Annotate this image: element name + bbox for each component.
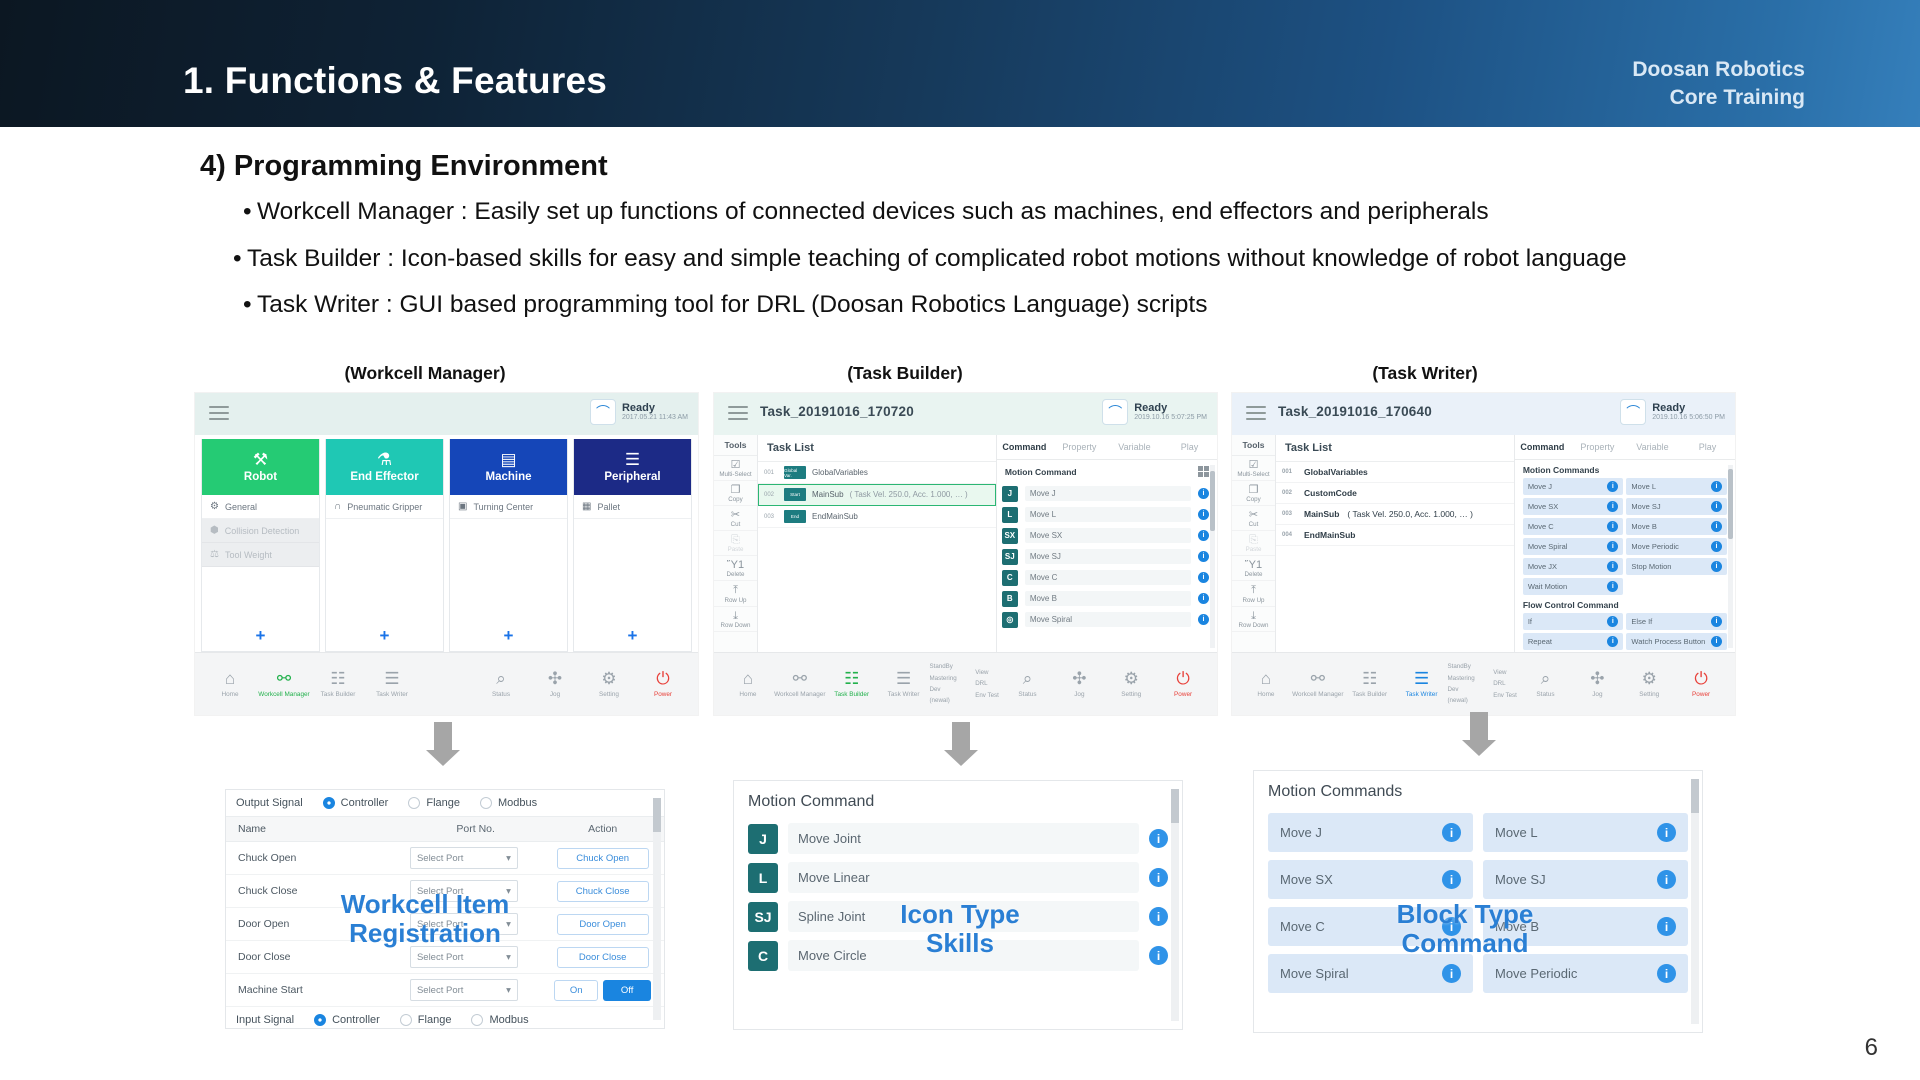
footer-task-builder-icon[interactable]: ☷ Task Builder xyxy=(1344,670,1396,698)
tool-row-up-icon[interactable]: ⤒ Row Up xyxy=(714,581,757,606)
action-button[interactable]: Chuck Open xyxy=(557,848,649,869)
info-icon[interactable]: i xyxy=(1607,481,1618,492)
row-number: 003 xyxy=(764,514,778,520)
move-sj-icon: SJ xyxy=(748,902,778,932)
output-signal-label: Output Signal xyxy=(236,797,303,809)
footer-mini-item[interactable]: Dev (newal) xyxy=(930,684,962,707)
row-detail: ( Task Vel. 250.0, Acc. 1.000, … ) xyxy=(1347,509,1473,519)
writer-task-list: Task List 001 GlobalVariables 002 Custom… xyxy=(1276,435,1515,652)
task-list-row[interactable]: 004 EndMainSub xyxy=(1276,525,1514,546)
radio-modbus-output[interactable]: Modbus xyxy=(480,797,537,809)
task-writer-icon: ☰ xyxy=(1396,670,1448,689)
col-port: Port No. xyxy=(410,823,541,835)
multi-select-icon: ☑ xyxy=(714,459,757,471)
item-icon: ⬢ xyxy=(210,525,219,536)
motion-command-row[interactable]: L Move L i xyxy=(997,504,1217,525)
panel-title: Motion Command xyxy=(734,781,1182,819)
info-icon[interactable]: i xyxy=(1442,823,1461,842)
footer-label: Home xyxy=(722,691,774,698)
command-label: Move L xyxy=(1631,482,1656,491)
row-number: 002 xyxy=(1282,490,1296,496)
task-name: Task_20191016_170720 xyxy=(760,404,914,419)
jog-icon: ✣ xyxy=(528,670,582,689)
footer-mini-item[interactable]: View DRL xyxy=(1493,667,1519,690)
footer-mini-item[interactable]: Env Test xyxy=(1493,690,1519,701)
footer-gear-icon[interactable]: ⚙ Setting xyxy=(1105,670,1157,698)
radio-controller-output[interactable]: Controller xyxy=(323,797,389,809)
hamburger-icon[interactable] xyxy=(209,406,229,424)
action-button[interactable]: Door Open xyxy=(557,914,649,935)
task-builder-icon: ☷ xyxy=(311,670,365,689)
footer-label: Workcell Manager xyxy=(257,691,311,698)
info-icon[interactable]: i xyxy=(1607,501,1618,512)
power-icon: ⏻ xyxy=(636,670,690,689)
info-icon[interactable]: i xyxy=(1657,823,1676,842)
info-icon[interactable]: i xyxy=(1711,521,1722,532)
info-icon[interactable]: i xyxy=(1607,561,1618,572)
footer-mini-item[interactable]: StandBy xyxy=(930,661,962,672)
workcell-card-item[interactable]: ⚙ General xyxy=(202,495,319,519)
col-name: Name xyxy=(226,823,410,835)
motion-command-row[interactable]: ◎ Move Spiral i xyxy=(997,609,1217,630)
command-label: Move SX xyxy=(1280,872,1333,887)
command-label: Move SJ xyxy=(1495,872,1546,887)
overlay-line: Icon Type xyxy=(850,900,1070,929)
info-icon[interactable]: i xyxy=(1711,616,1722,627)
status-label: Ready xyxy=(1134,402,1207,415)
footer-mini-item[interactable]: Mastering xyxy=(1448,673,1480,684)
brand-line-2: Core Training xyxy=(1632,84,1805,112)
info-icon[interactable]: i xyxy=(1607,541,1618,552)
info-icon[interactable]: i xyxy=(1657,964,1676,983)
status-time: 2017.05.21 11:43 AM xyxy=(622,414,688,422)
robot-status-icon: ⌒ xyxy=(590,399,616,425)
command-label: Move B xyxy=(1631,522,1656,531)
gear-icon: ⚙ xyxy=(1105,670,1157,689)
footer-power-icon[interactable]: ⏻ Power xyxy=(636,670,690,698)
trash-icon: Ὕ1 xyxy=(714,559,757,571)
radio-label: Flange xyxy=(426,797,460,809)
info-icon[interactable]: i xyxy=(1198,572,1209,583)
tab-variable[interactable]: Variable xyxy=(1107,435,1162,459)
command-block[interactable]: Move Spirali xyxy=(1523,538,1624,555)
footer-status-icon[interactable]: ⌕ Status xyxy=(474,670,528,698)
command-label: Move L xyxy=(1025,507,1191,522)
task-list-row[interactable]: 003 MainSub ( Task Vel. 250.0, Acc. 1.00… xyxy=(1276,504,1514,525)
footer-mini-item[interactable]: Dev (newal) xyxy=(1448,684,1480,707)
machine-icon: ▤ xyxy=(500,451,516,468)
gripper-icon: ⚗ xyxy=(377,451,392,468)
command-block[interactable]: Ifi xyxy=(1523,613,1624,630)
chevron-down-icon: ▾ xyxy=(506,853,511,864)
motion-command-row[interactable]: SX Move SX i xyxy=(997,525,1217,546)
command-label: Move C xyxy=(1025,570,1191,585)
command-tabs: CommandPropertyVariablePlay xyxy=(1515,435,1735,460)
row-label: MainSub xyxy=(1304,509,1339,519)
info-icon[interactable]: i xyxy=(1657,870,1676,889)
radio-flange-input[interactable]: Flange xyxy=(400,1014,452,1026)
footer-power-icon[interactable]: ⏻ Power xyxy=(1157,670,1209,698)
info-icon[interactable]: i xyxy=(1149,907,1168,926)
tool-paste-icon[interactable]: ⎘ Paste xyxy=(714,531,757,556)
command-scrollbar[interactable] xyxy=(1728,465,1733,648)
command-block[interactable]: Else Ifi xyxy=(1626,613,1727,630)
info-icon[interactable]: i xyxy=(1198,551,1209,562)
row-number: 003 xyxy=(1282,511,1296,517)
command-block[interactable]: Move SXi xyxy=(1523,498,1624,515)
command-block[interactable]: Repeati xyxy=(1523,633,1624,650)
footer-jog-icon[interactable]: ✣ Jog xyxy=(1053,670,1105,698)
port-select[interactable]: Select Port▾ xyxy=(410,979,518,1001)
item-icon: ∩ xyxy=(334,501,341,512)
task-list-row[interactable]: 001 GlobalVariables xyxy=(1276,462,1514,483)
copy-icon: ❐ xyxy=(1232,484,1275,496)
tool-label: Row Down xyxy=(1232,622,1275,629)
footer-workcell-icon[interactable]: ⚯ Workcell Manager xyxy=(774,670,826,698)
info-icon[interactable]: i xyxy=(1149,946,1168,965)
skill-label: Move Joint xyxy=(788,823,1139,854)
flow-arrow xyxy=(1462,712,1496,756)
writer-tools-sidebar: Tools ☑ Multi-Select ❐ Copy ✂ Cut ⎘ Past… xyxy=(1232,435,1276,652)
row-type-chip: Global Var. xyxy=(784,466,806,479)
page-number: 6 xyxy=(1865,1034,1878,1062)
command-label: Move J xyxy=(1528,482,1552,491)
overlay-icon-type-skills: Icon TypeSkills xyxy=(850,900,1070,958)
workcell-icon: ⚯ xyxy=(774,670,826,689)
tool-trash-icon[interactable]: Ὕ1 Delete xyxy=(1232,556,1275,581)
info-icon[interactable]: i xyxy=(1149,868,1168,887)
footer-workcell-icon[interactable]: ⚯ Workcell Manager xyxy=(257,670,311,698)
tool-trash-icon[interactable]: Ὕ1 Delete xyxy=(714,556,757,581)
footer-home-icon[interactable]: ⌂ Home xyxy=(203,670,257,698)
off-button[interactable]: Off xyxy=(603,980,651,1001)
info-icon[interactable]: i xyxy=(1607,521,1618,532)
overlay-line: Block Type xyxy=(1340,900,1590,929)
footer-label: Jog xyxy=(528,691,582,698)
info-icon[interactable]: i xyxy=(1198,509,1209,520)
footer-jog-icon[interactable]: ✣ Jog xyxy=(1571,670,1623,698)
status-icon: ⌕ xyxy=(474,670,528,689)
caption-task-builder: (Task Builder) xyxy=(785,363,1025,384)
add-item-button[interactable]: + xyxy=(574,623,691,651)
command-block[interactable]: Move Bi xyxy=(1626,518,1727,535)
tool-paste-icon[interactable]: ⎘ Paste xyxy=(1232,531,1275,556)
tab-command[interactable]: Command xyxy=(997,435,1052,459)
tools-header: Tools xyxy=(714,435,757,456)
footer-home-icon[interactable]: ⌂ Home xyxy=(722,670,774,698)
panel-scrollbar[interactable] xyxy=(1171,789,1179,1021)
workcell-card[interactable]: ▤ Machine ▣ Turning Center + xyxy=(449,439,568,652)
tool-label: Copy xyxy=(1232,496,1275,503)
panel-scrollbar[interactable] xyxy=(1691,779,1699,1024)
tool-label: Cut xyxy=(1232,521,1275,528)
footer-mini-item[interactable]: View DRL xyxy=(975,667,1001,690)
move-sx-icon: SX xyxy=(1002,528,1018,544)
workcell-card-item[interactable]: ∩ Pneumatic Gripper xyxy=(326,495,443,519)
footer-workcell-icon[interactable]: ⚯ Workcell Manager xyxy=(1292,670,1344,698)
footer-label: Task Builder xyxy=(826,691,878,698)
command-block[interactable]: Move SX i xyxy=(1268,860,1473,899)
move-sj-icon: SJ xyxy=(1002,549,1018,565)
tool-copy-icon[interactable]: ❐ Copy xyxy=(1232,481,1275,506)
footer-mini-item[interactable]: StandBy xyxy=(1448,661,1480,672)
overlay-block-type-command: Block TypeCommand xyxy=(1340,900,1590,958)
row-number: 004 xyxy=(1282,532,1296,538)
port-select[interactable]: Select Port▾ xyxy=(410,847,518,869)
info-icon[interactable]: i xyxy=(1607,581,1618,592)
footer-task-builder-icon[interactable]: ☷ Task Builder xyxy=(311,670,365,698)
home-icon: ⌂ xyxy=(722,670,774,689)
command-block[interactable]: Move SJ i xyxy=(1483,860,1688,899)
command-block[interactable]: Watch Process Buttoni xyxy=(1626,633,1727,650)
tool-row-up-icon[interactable]: ⤒ Row Up xyxy=(1232,581,1275,606)
command-block[interactable]: Move SJi xyxy=(1626,498,1727,515)
footer-home-icon[interactable]: ⌂ Home xyxy=(1240,670,1292,698)
workcell-manager-screenshot: ⌒ Ready 2017.05.21 11:43 AM ⚒ Robot ⚙ Ge… xyxy=(195,393,698,715)
jog-icon: ✣ xyxy=(1571,670,1623,689)
row-up-icon: ⤒ xyxy=(714,584,757,596)
robot-arm-icon: ⚒ xyxy=(253,451,268,468)
info-icon[interactable]: i xyxy=(1198,614,1209,625)
tool-label: Cut xyxy=(714,521,757,528)
on-button[interactable]: On xyxy=(554,980,598,1001)
info-icon[interactable]: i xyxy=(1442,964,1461,983)
workcell-card[interactable]: ⚗ End Effector ∩ Pneumatic Gripper + xyxy=(325,439,444,652)
row-type-chip: Start xyxy=(784,488,806,501)
builder-command-pane: CommandPropertyVariablePlay Motion Comma… xyxy=(997,435,1217,652)
row-label: GlobalVariables xyxy=(812,468,868,477)
action-button[interactable]: Chuck Close xyxy=(557,881,649,902)
footer-label: Workcell Manager xyxy=(1292,691,1344,698)
tab-variable[interactable]: Variable xyxy=(1625,435,1680,459)
info-icon[interactable]: i xyxy=(1711,636,1722,647)
info-icon[interactable]: i xyxy=(1198,488,1209,499)
command-block[interactable]: Stop Motioni xyxy=(1626,558,1727,575)
footer-label: Status xyxy=(1520,691,1572,698)
footer-task-writer-icon[interactable]: ☰ Task Writer xyxy=(878,670,930,698)
info-icon[interactable]: i xyxy=(1711,561,1722,572)
info-icon[interactable]: i xyxy=(1198,593,1209,604)
tool-cut-icon[interactable]: ✂ Cut xyxy=(1232,506,1275,531)
radio-dot-icon xyxy=(323,797,335,809)
radio-flange-output[interactable]: Flange xyxy=(408,797,460,809)
workcell-card[interactable]: ☰ Peripheral ▦ Pallet + xyxy=(573,439,692,652)
hamburger-icon[interactable] xyxy=(728,406,748,424)
power-icon: ⏻ xyxy=(1675,670,1727,689)
command-block[interactable]: Move Ci xyxy=(1523,518,1624,535)
info-icon[interactable]: i xyxy=(1711,501,1722,512)
panel-scrollbar[interactable] xyxy=(653,798,661,1020)
signal-table-header: Name Port No. Action xyxy=(226,816,664,842)
info-icon[interactable]: i xyxy=(1607,636,1618,647)
skill-row[interactable]: L Move Linear i xyxy=(734,858,1182,897)
command-block[interactable]: Move L i xyxy=(1483,813,1688,852)
footer-label: Power xyxy=(1675,691,1727,698)
row-label: GlobalVariables xyxy=(1304,467,1368,477)
footer-label: Task Builder xyxy=(1344,691,1396,698)
task-list-row[interactable]: 003 End EndMainSub xyxy=(758,506,996,528)
command-section-title: Motion Command xyxy=(1005,467,1077,477)
task-list-row[interactable]: 002 CustomCode xyxy=(1276,483,1514,504)
move-spiral-icon: ◎ xyxy=(1002,612,1018,628)
signal-row: Machine Start Select Port▾ OnOff xyxy=(226,974,664,1007)
footer-label: Task Writer xyxy=(1396,691,1448,698)
motion-command-row[interactable]: B Move B i xyxy=(997,588,1217,609)
skill-row[interactable]: J Move Joint i xyxy=(734,819,1182,858)
footer-task-writer-icon[interactable]: ☰ Task Writer xyxy=(365,670,419,698)
tool-multi-select-icon[interactable]: ☑ Multi-Select xyxy=(1232,456,1275,481)
brand-line-1: Doosan Robotics xyxy=(1632,56,1805,84)
footer-status-icon[interactable]: ⌕ Status xyxy=(1520,670,1572,698)
command-block[interactable]: Move Spiral i xyxy=(1268,954,1473,993)
footer-task-builder-icon[interactable]: ☷ Task Builder xyxy=(826,670,878,698)
command-block[interactable]: Move Li xyxy=(1626,478,1727,495)
footer-power-icon[interactable]: ⏻ Power xyxy=(1675,670,1727,698)
grid-view-icon[interactable] xyxy=(1198,466,1209,477)
row-detail: ( Task Vel. 250.0, Acc. 1.000, … ) xyxy=(850,490,968,499)
command-block[interactable]: Move Periodici xyxy=(1626,538,1727,555)
row-label: CustomCode xyxy=(1304,488,1357,498)
add-item-button[interactable]: + xyxy=(450,623,567,651)
item-label: Pallet xyxy=(597,502,620,512)
radio-label: Modbus xyxy=(489,1014,528,1026)
footer-mini-item[interactable]: Mastering xyxy=(930,673,962,684)
radio-label: Controller xyxy=(341,797,389,809)
tab-property[interactable]: Property xyxy=(1570,435,1625,459)
tool-row-down-icon[interactable]: ⤓ Row Down xyxy=(714,607,757,632)
add-item-button[interactable]: + xyxy=(326,623,443,651)
flow-arrow xyxy=(426,722,460,766)
command-label: Move C xyxy=(1528,522,1554,531)
skill-label: Move Linear xyxy=(788,862,1139,893)
tool-multi-select-icon[interactable]: ☑ Multi-Select xyxy=(714,456,757,481)
bullet-list: •Workcell Manager : Easily set up functi… xyxy=(215,200,1915,340)
task-list-row[interactable]: 002 Start MainSub ( Task Vel. 250.0, Acc… xyxy=(758,484,996,506)
builder-tools-sidebar: Tools ☑ Multi-Select ❐ Copy ✂ Cut ⎘ Past… xyxy=(714,435,758,652)
bullet-item: •Task Builder : Icon-based skills for ea… xyxy=(215,247,1915,272)
command-label: Move L xyxy=(1495,825,1538,840)
command-block[interactable]: Move J i xyxy=(1268,813,1473,852)
trash-icon: Ὕ1 xyxy=(1232,559,1275,571)
command-block[interactable]: Move Periodic i xyxy=(1483,954,1688,993)
status-label: Ready xyxy=(622,402,688,415)
port-value: Select Port xyxy=(417,985,463,996)
row-number: 002 xyxy=(764,492,778,498)
info-icon[interactable]: i xyxy=(1442,870,1461,889)
flow-section-title: Flow Control Command xyxy=(1515,595,1735,613)
command-label: Move Spiral xyxy=(1280,966,1349,981)
tab-property[interactable]: Property xyxy=(1052,435,1107,459)
command-label: Move Spiral xyxy=(1025,612,1191,627)
tab-command[interactable]: Command xyxy=(1515,435,1570,459)
status-badge: ⌒ Ready 2019.10.16 5:07:25 PM xyxy=(1102,399,1207,425)
tool-label: Delete xyxy=(714,571,757,578)
task-list-row[interactable]: 001 Global Var. GlobalVariables xyxy=(758,462,996,484)
info-icon[interactable]: i xyxy=(1711,481,1722,492)
workcell-card-header: ⚗ End Effector xyxy=(326,439,443,495)
info-icon[interactable]: i xyxy=(1607,616,1618,627)
overlay-line: Registration xyxy=(300,919,550,948)
footer-jog-icon[interactable]: ✣ Jog xyxy=(528,670,582,698)
hamburger-icon[interactable] xyxy=(1246,406,1266,424)
footer-gear-icon[interactable]: ⚙ Setting xyxy=(1623,670,1675,698)
motion-command-row[interactable]: C Move C i xyxy=(997,567,1217,588)
tab-play[interactable]: Play xyxy=(1680,435,1735,459)
tab-play[interactable]: Play xyxy=(1162,435,1217,459)
command-label: Wait Motion xyxy=(1528,582,1567,591)
tool-copy-icon[interactable]: ❐ Copy xyxy=(714,481,757,506)
footer-label: Setting xyxy=(582,691,636,698)
command-label: Move SJ xyxy=(1631,502,1660,511)
info-icon[interactable]: i xyxy=(1149,829,1168,848)
workcell-card-item[interactable]: ⬢ Collision Detection xyxy=(202,519,319,543)
command-label: Move Spiral xyxy=(1528,542,1568,551)
workcell-card-item[interactable]: ⚖ Tool Weight xyxy=(202,543,319,567)
motion-command-row[interactable]: J Move J i xyxy=(997,483,1217,504)
input-signal-label: Input Signal xyxy=(236,1014,294,1026)
workcell-card[interactable]: ⚒ Robot ⚙ General ⬢ Collision Detection … xyxy=(201,439,320,652)
tool-row-down-icon[interactable]: ⤓ Row Down xyxy=(1232,607,1275,632)
workcell-card-item[interactable]: ▣ Turning Center xyxy=(450,495,567,519)
info-icon[interactable]: i xyxy=(1711,541,1722,552)
tool-cut-icon[interactable]: ✂ Cut xyxy=(714,506,757,531)
footer-label: Power xyxy=(1157,691,1209,698)
motion-command-row[interactable]: SJ Move SJ i xyxy=(997,546,1217,567)
footer-gear-icon[interactable]: ⚙ Setting xyxy=(582,670,636,698)
caption-workcell-manager: (Workcell Manager) xyxy=(250,363,600,384)
row-down-icon: ⤓ xyxy=(1232,610,1275,622)
command-block[interactable]: Wait Motioni xyxy=(1523,578,1624,595)
row-number: 001 xyxy=(764,470,778,476)
add-item-button[interactable]: + xyxy=(202,623,319,651)
copy-icon: ❐ xyxy=(714,484,757,496)
footer-mini-item[interactable]: Env Test xyxy=(975,690,1001,701)
writer-command-pane: CommandPropertyVariablePlay Motion Comma… xyxy=(1515,435,1735,652)
workcell-card-header: ☰ Peripheral xyxy=(574,439,691,495)
action-button[interactable]: Door Close xyxy=(557,947,649,968)
command-block[interactable]: Move Ji xyxy=(1523,478,1624,495)
info-icon[interactable]: i xyxy=(1198,530,1209,541)
tool-label: Paste xyxy=(1232,546,1275,553)
footer-task-writer-icon[interactable]: ☰ Task Writer xyxy=(1396,670,1448,698)
port-value: Select Port xyxy=(417,952,463,963)
workcell-card-item[interactable]: ▦ Pallet xyxy=(574,495,691,519)
workcell-card-title: Peripheral xyxy=(604,471,660,483)
paste-icon: ⎘ xyxy=(1232,534,1275,546)
item-icon: ▣ xyxy=(458,501,467,512)
command-block[interactable]: Move JXi xyxy=(1523,558,1624,575)
footer-mini-col-1: StandByMasteringDev (newal) xyxy=(1448,661,1480,707)
move-l-icon: L xyxy=(1002,507,1018,523)
command-label: Move J xyxy=(1025,486,1191,501)
tool-label: Row Up xyxy=(1232,597,1275,604)
radio-dot-icon xyxy=(314,1014,326,1026)
input-signal-row: Input Signal Controller Flange Modbus xyxy=(226,1007,664,1033)
info-icon[interactable]: i xyxy=(1657,917,1676,936)
footer-status-icon[interactable]: ⌕ Status xyxy=(1002,670,1054,698)
footer-mini-col-2: View DRLEnv Test xyxy=(975,667,1001,701)
move-b-icon: B xyxy=(1002,591,1018,607)
footer-label: Power xyxy=(636,691,690,698)
row-up-icon: ⤒ xyxy=(1232,584,1275,596)
port-select[interactable]: Select Port▾ xyxy=(410,946,518,968)
radio-modbus-input[interactable]: Modbus xyxy=(471,1014,528,1026)
command-label: Move SX xyxy=(1025,528,1191,543)
radio-controller-input[interactable]: Controller xyxy=(314,1014,380,1026)
footer-mini-col-2: View DRLEnv Test xyxy=(1493,667,1519,701)
command-scrollbar[interactable] xyxy=(1210,465,1215,648)
row-type-chip: End xyxy=(784,510,806,523)
